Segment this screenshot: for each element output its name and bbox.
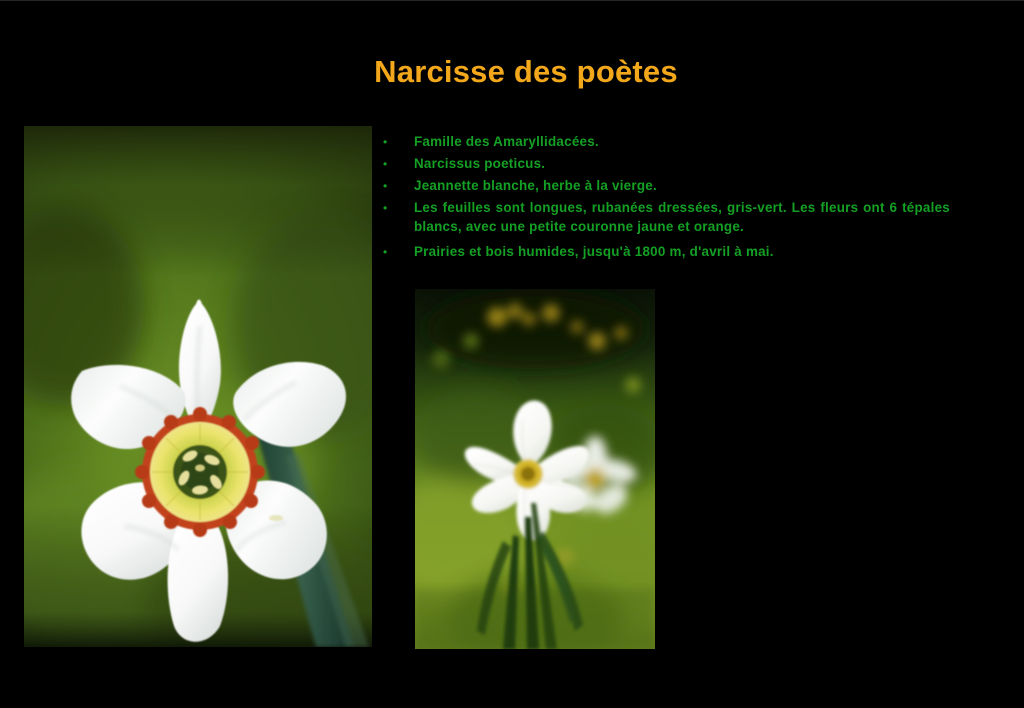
list-item-text: Les feuilles sont longues, rubanées dres… (414, 199, 950, 236)
list-item-text: Famille des Amaryllidacées. (414, 133, 950, 152)
bullet-point-icon: • (380, 133, 414, 152)
bullet-point-icon: • (380, 177, 414, 196)
page-title-text: Narcisse des poètes (374, 55, 678, 89)
list-item: • Prairies et bois humides, jusqu'à 1800… (380, 243, 950, 262)
narcissus-closeup-illustration (24, 126, 372, 647)
list-item: • Famille des Amaryllidacées. (380, 133, 950, 152)
page-title: Narcisse des poètes (0, 55, 1024, 89)
list-item-text: Narcissus poeticus. (414, 155, 950, 174)
list-item: • Les feuilles sont longues, rubanées dr… (380, 199, 950, 236)
slide-canvas: Narcisse des poètes (0, 0, 1024, 708)
bullet-list: • Famille des Amaryllidacées. • Narcissu… (380, 133, 950, 265)
bullet-point-icon: • (380, 199, 414, 218)
bullet-point-icon: • (380, 243, 414, 262)
bullet-point-icon: • (380, 155, 414, 174)
list-item-text: Jeannette blanche, herbe à la vierge. (414, 177, 950, 196)
narcissus-meadow-photo (415, 289, 655, 649)
narcissus-closeup-photo (24, 126, 372, 647)
list-item: • Jeannette blanche, herbe à la vierge. (380, 177, 950, 196)
list-item-text: Prairies et bois humides, jusqu'à 1800 m… (414, 243, 950, 262)
list-item: • Narcissus poeticus. (380, 155, 950, 174)
narcissus-meadow-illustration (415, 289, 655, 649)
